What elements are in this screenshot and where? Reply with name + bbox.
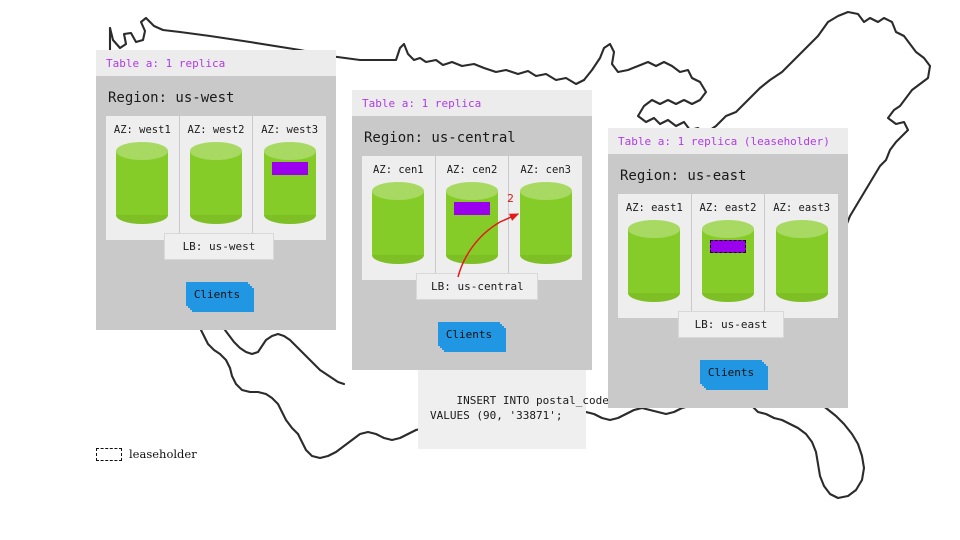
clients-card-front[interactable]: Clients (186, 282, 248, 306)
clients-stack-us-central[interactable]: Clients (438, 322, 500, 346)
clients-card-front[interactable]: Clients (438, 322, 500, 346)
az-cell-west2[interactable]: AZ: west2 (180, 116, 254, 240)
cylinder-body (776, 229, 828, 293)
node-cylinder-east2[interactable] (702, 220, 754, 302)
node-cylinder-cen3[interactable] (520, 182, 572, 264)
az-label-west3: AZ: west3 (257, 124, 322, 136)
az-cell-west1[interactable]: AZ: west1 (106, 116, 180, 240)
az-cell-east1[interactable]: AZ: east1 (618, 194, 692, 318)
cylinder-top (264, 142, 316, 160)
region-panel-us-east: Table a: 1 replica (leaseholder) Region:… (608, 128, 848, 408)
az-cell-east3[interactable]: AZ: east3 (765, 194, 838, 318)
node-cylinder-cen1[interactable] (372, 182, 424, 264)
panel-header-us-central: Table a: 1 replica (352, 90, 592, 116)
clients-label: Clients (194, 288, 240, 301)
replica-block-west3 (272, 162, 308, 175)
az-label-east2: AZ: east2 (696, 202, 761, 214)
az-label-west2: AZ: west2 (184, 124, 249, 136)
diagram-canvas: Table a: 1 replica Region: us-west AZ: w… (0, 0, 960, 540)
replica-block-east2-leaseholder (710, 240, 746, 253)
cylinder-body (264, 151, 316, 215)
region-title-us-central: Region: us-central (364, 130, 582, 146)
replica-status-label: Table a: 1 replica (106, 57, 225, 70)
node-cylinder-east3[interactable] (776, 220, 828, 302)
load-balancer-us-central[interactable]: LB: us-central (416, 273, 538, 300)
az-cell-cen1[interactable]: AZ: cen1 (362, 156, 436, 280)
az-cell-cen3[interactable]: AZ: cen3 (509, 156, 582, 280)
az-label-cen2: AZ: cen2 (440, 164, 505, 176)
clients-card-front[interactable]: Clients (700, 360, 762, 384)
replica-block-cen2 (454, 202, 490, 215)
cylinder-body (372, 191, 424, 255)
dashed-rect-icon (96, 448, 122, 461)
az-cell-cen2[interactable]: AZ: cen2 (436, 156, 510, 280)
az-row-us-west: AZ: west1 AZ: west2 (106, 116, 326, 240)
clients-label: Clients (708, 366, 754, 379)
az-row-us-east: AZ: east1 AZ: east2 (618, 194, 838, 318)
clients-stack-us-east[interactable]: Clients (700, 360, 762, 384)
az-label-west1: AZ: west1 (110, 124, 175, 136)
lb-label: LB: us-east (695, 318, 768, 331)
sql-statement-box: INSERT INTO postal_codes VALUES (90, '33… (418, 370, 586, 449)
az-cell-west3[interactable]: AZ: west3 (253, 116, 326, 240)
sql-statement-text: INSERT INTO postal_codes VALUES (90, '33… (430, 394, 615, 422)
cylinder-top (190, 142, 242, 160)
region-title-us-east: Region: us-east (620, 168, 838, 184)
load-balancer-us-west[interactable]: LB: us-west (164, 233, 274, 260)
az-cell-east2[interactable]: AZ: east2 (692, 194, 766, 318)
node-cylinder-west1[interactable] (116, 142, 168, 224)
cylinder-top (776, 220, 828, 238)
cylinder-top (446, 182, 498, 200)
routing-arrow-number: 2 (507, 192, 514, 205)
panel-header-us-west: Table a: 1 replica (96, 50, 336, 76)
replica-status-label: Table a: 1 replica (362, 97, 481, 110)
lb-label: LB: us-central (431, 280, 524, 293)
cylinder-body (190, 151, 242, 215)
lb-label: LB: us-west (183, 240, 256, 253)
region-panel-us-central: Table a: 1 replica Region: us-central AZ… (352, 90, 592, 370)
legend: leaseholder (96, 447, 197, 461)
node-cylinder-west3[interactable] (264, 142, 316, 224)
panel-header-us-east: Table a: 1 replica (leaseholder) (608, 128, 848, 154)
load-balancer-us-east[interactable]: LB: us-east (678, 311, 784, 338)
region-title-us-west: Region: us-west (108, 90, 326, 106)
region-panel-us-west: Table a: 1 replica Region: us-west AZ: w… (96, 50, 336, 330)
routing-arrow-label: 2 (507, 192, 514, 205)
node-cylinder-west2[interactable] (190, 142, 242, 224)
clients-stack-us-west[interactable]: Clients (186, 282, 248, 306)
node-cylinder-east1[interactable] (628, 220, 680, 302)
cylinder-top (116, 142, 168, 160)
az-label-cen3: AZ: cen3 (513, 164, 578, 176)
cylinder-body (116, 151, 168, 215)
cylinder-body (520, 191, 572, 255)
cylinder-body (446, 191, 498, 255)
cylinder-top (702, 220, 754, 238)
replica-status-label: Table a: 1 replica (leaseholder) (618, 135, 830, 148)
cylinder-top (372, 182, 424, 200)
cylinder-body (628, 229, 680, 293)
legend-label: leaseholder (129, 447, 197, 461)
cylinder-body (702, 229, 754, 293)
az-label-east3: AZ: east3 (769, 202, 834, 214)
cylinder-top (628, 220, 680, 238)
cylinder-top (520, 182, 572, 200)
az-label-east1: AZ: east1 (622, 202, 687, 214)
az-row-us-central: AZ: cen1 AZ: cen2 (362, 156, 582, 280)
az-label-cen1: AZ: cen1 (366, 164, 431, 176)
node-cylinder-cen2[interactable] (446, 182, 498, 264)
clients-label: Clients (446, 328, 492, 341)
